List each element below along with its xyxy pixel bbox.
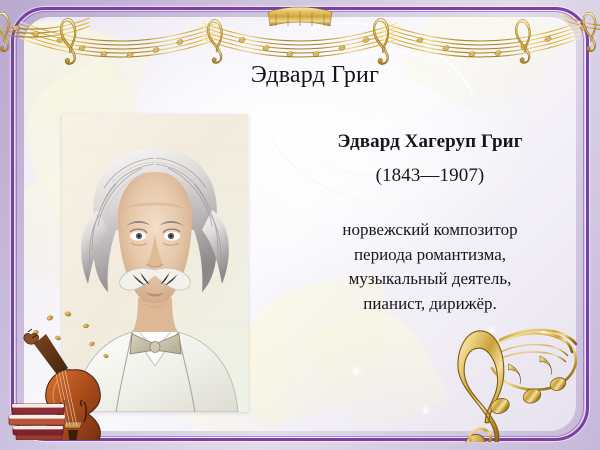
sparkle-dot [390,95,393,98]
composer-full-name: Эдвард Хагеруп Григ [274,130,586,154]
description-line: норвежский композитор [274,218,586,243]
composer-description: норвежский композитор периода романтизма… [274,218,586,316]
portrait-image [62,114,248,412]
sparkle-dot [424,409,427,412]
description-line: музыкальный деятель, [274,267,586,292]
description-line: периода романтизма, [274,243,586,268]
composer-life-dates: (1843—1907) [274,164,586,188]
page-title: Эдвард Григ [150,60,480,90]
description-line: пианист, дирижёр. [274,292,586,317]
sparkle-dot [324,53,328,57]
sparkle-dot [490,329,493,332]
presentation-slide: Эдвард Григ [0,0,600,450]
biography-block: Эдвард Хагеруп Григ (1843—1907) норвежск… [274,130,586,316]
sparkle-dot [354,369,358,373]
